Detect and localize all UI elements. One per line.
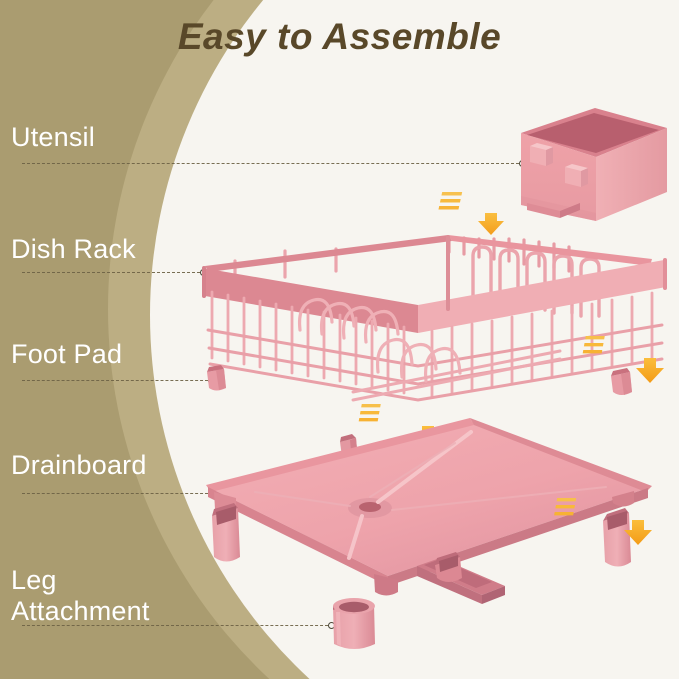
label-utensil: Utensil	[11, 122, 95, 153]
leader-endpoint-foot-pad	[208, 377, 215, 384]
leader-line-utensil	[22, 163, 519, 165]
leader-line-foot-pad	[22, 380, 208, 382]
label-drainboard: Drainboard	[11, 450, 147, 481]
background-circle-cream	[150, 0, 679, 679]
leader-endpoint-leg-attachment	[328, 622, 335, 629]
label-leg-attachment: Leg Attachment	[11, 565, 150, 627]
leader-line-dish-rack	[22, 272, 200, 274]
label-dish-rack: Dish Rack	[11, 234, 136, 265]
leader-endpoint-dish-rack	[200, 269, 207, 276]
leader-line-drainboard	[22, 493, 208, 495]
leader-endpoint-drainboard	[208, 490, 215, 497]
label-foot-pad: Foot Pad	[11, 339, 122, 370]
page-title: Easy to Assemble	[0, 16, 679, 58]
leader-endpoint-utensil	[519, 160, 526, 167]
infographic-canvas: Easy to Assemble UtensilDish RackFoot Pa…	[0, 0, 679, 679]
